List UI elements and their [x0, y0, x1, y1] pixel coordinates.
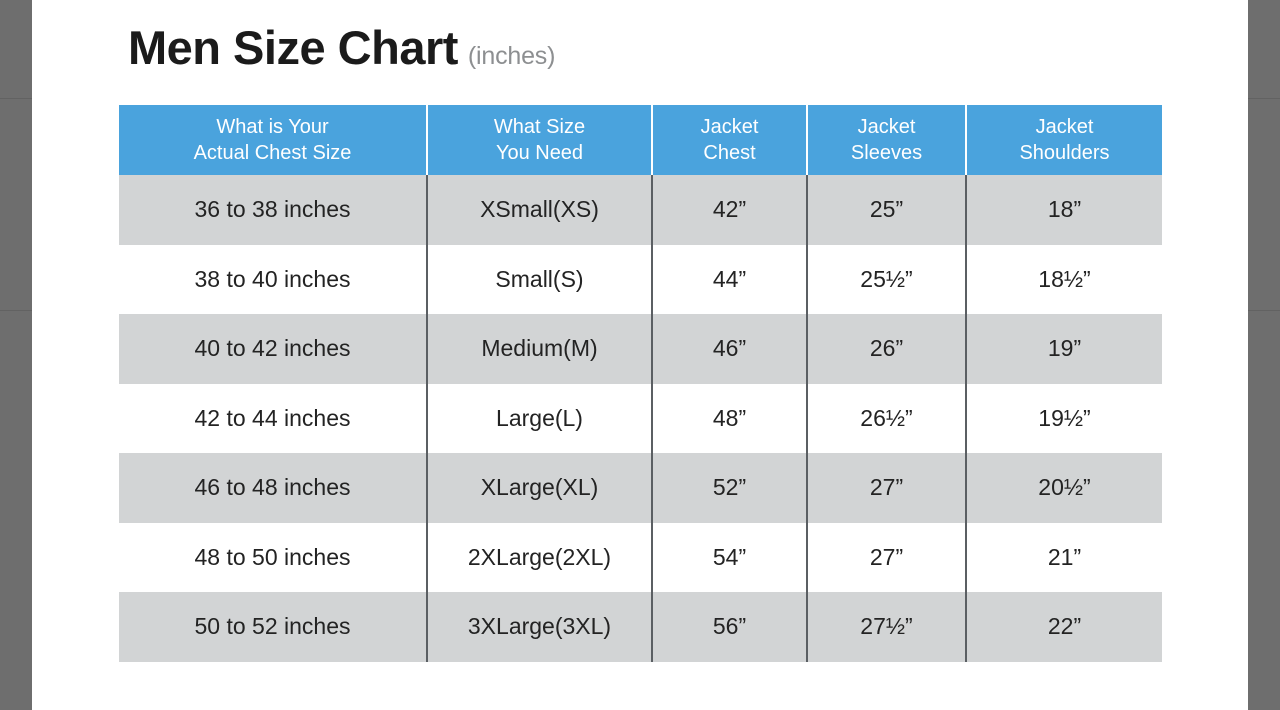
cell-size-needed: Medium(M)	[427, 314, 652, 384]
cell-chest-size: 50 to 52 inches	[119, 592, 427, 662]
cell-jacket-sleeves: 27”	[807, 523, 966, 593]
cell-jacket-sleeves: 27½”	[807, 592, 966, 662]
cell-jacket-chest: 44”	[652, 245, 807, 315]
right-letterbox-band	[1248, 0, 1280, 710]
column-header-jacket-shoulders: Jacket Shoulders	[966, 105, 1162, 175]
column-header-line-1: Jacket	[659, 114, 800, 140]
page-title: Men Size Chart (inches)	[128, 20, 555, 75]
cell-chest-size: 48 to 50 inches	[119, 523, 427, 593]
column-header-jacket-chest: Jacket Chest	[652, 105, 807, 175]
page-title-main: Men Size Chart	[128, 20, 458, 75]
cell-size-needed: 2XLarge(2XL)	[427, 523, 652, 593]
column-header-line-2: You Need	[434, 140, 645, 166]
cell-jacket-shoulders: 21”	[966, 523, 1162, 593]
cell-size-needed: XSmall(XS)	[427, 175, 652, 245]
cell-chest-size: 36 to 38 inches	[119, 175, 427, 245]
cell-size-needed: 3XLarge(3XL)	[427, 592, 652, 662]
table-row: 36 to 38 inches XSmall(XS) 42” 25” 18”	[119, 175, 1162, 245]
column-header-line-1: Jacket	[973, 114, 1156, 140]
column-header-line-2: Actual Chest Size	[125, 140, 420, 166]
table-row: 46 to 48 inches XLarge(XL) 52” 27” 20½”	[119, 453, 1162, 523]
band-seam	[1248, 98, 1280, 99]
cell-chest-size: 38 to 40 inches	[119, 245, 427, 315]
cell-jacket-sleeves: 25”	[807, 175, 966, 245]
cell-jacket-chest: 48”	[652, 384, 807, 454]
band-seam	[0, 310, 32, 311]
table-row: 50 to 52 inches 3XLarge(3XL) 56” 27½” 22…	[119, 592, 1162, 662]
table-row: 38 to 40 inches Small(S) 44” 25½” 18½”	[119, 245, 1162, 315]
column-header-line-1: What is Your	[125, 114, 420, 140]
cell-size-needed: Small(S)	[427, 245, 652, 315]
band-seam	[1248, 310, 1280, 311]
slide-canvas: Men Size Chart (inches) What is Your Act…	[32, 0, 1248, 710]
table-header: What is Your Actual Chest Size What Size…	[119, 105, 1162, 175]
cell-size-needed: XLarge(XL)	[427, 453, 652, 523]
cell-jacket-shoulders: 19½”	[966, 384, 1162, 454]
cell-jacket-chest: 52”	[652, 453, 807, 523]
cell-jacket-shoulders: 18”	[966, 175, 1162, 245]
cell-jacket-shoulders: 22”	[966, 592, 1162, 662]
cell-jacket-sleeves: 27”	[807, 453, 966, 523]
cell-jacket-shoulders: 19”	[966, 314, 1162, 384]
column-header-line-2: Chest	[659, 140, 800, 166]
size-chart-table: What is Your Actual Chest Size What Size…	[119, 105, 1162, 662]
column-header-line-2: Sleeves	[814, 140, 959, 166]
cell-jacket-sleeves: 26”	[807, 314, 966, 384]
table-row: 42 to 44 inches Large(L) 48” 26½” 19½”	[119, 384, 1162, 454]
table-row: 40 to 42 inches Medium(M) 46” 26” 19”	[119, 314, 1162, 384]
column-header-jacket-sleeves: Jacket Sleeves	[807, 105, 966, 175]
column-header-line-2: Shoulders	[973, 140, 1156, 166]
cell-jacket-shoulders: 18½”	[966, 245, 1162, 315]
cell-jacket-chest: 42”	[652, 175, 807, 245]
cell-chest-size: 42 to 44 inches	[119, 384, 427, 454]
column-header-line-1: Jacket	[814, 114, 959, 140]
cell-chest-size: 40 to 42 inches	[119, 314, 427, 384]
cell-jacket-sleeves: 26½”	[807, 384, 966, 454]
cell-jacket-chest: 46”	[652, 314, 807, 384]
cell-jacket-chest: 56”	[652, 592, 807, 662]
page-title-units: (inches)	[468, 42, 555, 71]
band-seam	[0, 98, 32, 99]
table-row: 48 to 50 inches 2XLarge(2XL) 54” 27” 21”	[119, 523, 1162, 593]
column-header-size-needed: What Size You Need	[427, 105, 652, 175]
table-body: 36 to 38 inches XSmall(XS) 42” 25” 18” 3…	[119, 175, 1162, 662]
cell-jacket-shoulders: 20½”	[966, 453, 1162, 523]
cell-chest-size: 46 to 48 inches	[119, 453, 427, 523]
left-letterbox-band	[0, 0, 32, 710]
column-header-line-1: What Size	[434, 114, 645, 140]
table-header-row: What is Your Actual Chest Size What Size…	[119, 105, 1162, 175]
cell-jacket-sleeves: 25½”	[807, 245, 966, 315]
cell-jacket-chest: 54”	[652, 523, 807, 593]
cell-size-needed: Large(L)	[427, 384, 652, 454]
column-header-chest-size: What is Your Actual Chest Size	[119, 105, 427, 175]
